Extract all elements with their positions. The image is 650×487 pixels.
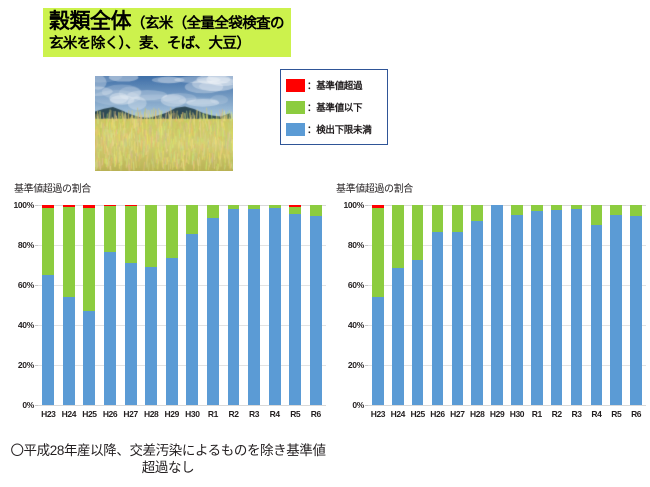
stacked-bar[interactable]	[83, 205, 95, 405]
stacked-bar[interactable]	[610, 205, 622, 405]
bar-segment-below-standard	[125, 206, 137, 263]
stacked-bar[interactable]	[630, 205, 642, 405]
bar-segment-below-detection-limit	[630, 216, 642, 405]
stacked-bar[interactable]	[551, 205, 563, 405]
bar-segment-below-standard	[83, 208, 95, 311]
panel-title-grains: 穀類全体（玄米（全量全袋検査の玄米を除く）、麦、そば、大豆）	[43, 8, 291, 57]
bar-slot-r5[interactable]	[606, 205, 626, 405]
x-axis-label-r4: R4	[264, 409, 285, 419]
x-axis-label-h25: H25	[408, 409, 428, 419]
y-axis-label: 0%	[22, 400, 34, 410]
bar-slot-r6[interactable]	[626, 205, 646, 405]
bar-slot-h29[interactable]	[161, 205, 182, 405]
bar-segment-below-detection-limit	[83, 311, 95, 405]
bar-segment-below-detection-limit	[432, 232, 444, 405]
bar-segment-below-detection-limit	[392, 268, 404, 405]
stacked-bar[interactable]	[571, 205, 583, 405]
plot-area: 0%20%40%60%80%100%	[38, 205, 326, 405]
stacked-bar[interactable]	[269, 205, 281, 405]
bar-slot-h26[interactable]	[100, 205, 121, 405]
bar-segment-below-detection-limit	[511, 215, 523, 405]
bar-slot-h24[interactable]	[388, 205, 408, 405]
x-axis-label-r3: R3	[567, 409, 587, 419]
bar-segment-below-detection-limit	[248, 209, 260, 405]
bar-slot-h24[interactable]	[59, 205, 80, 405]
x-axis: H23H24H25H26H27H28H29H30R1R2R3R4R5R6	[368, 409, 646, 419]
stacked-bar[interactable]	[412, 205, 424, 405]
bar-slot-r4[interactable]	[586, 205, 606, 405]
bar-slot-h28[interactable]	[141, 205, 162, 405]
bar-segment-below-detection-limit	[63, 297, 75, 405]
stacked-bar[interactable]	[289, 205, 301, 405]
stacked-bar[interactable]	[310, 205, 322, 405]
bar-segment-below-detection-limit	[591, 225, 603, 405]
stacked-bar[interactable]	[166, 205, 178, 405]
panel-title-grains-main: 穀類全体	[49, 10, 131, 33]
bar-segment-below-detection-limit	[125, 263, 137, 405]
bar-segment-below-standard	[511, 205, 523, 215]
stacked-bar[interactable]	[432, 205, 444, 405]
stacked-bar[interactable]	[42, 205, 54, 405]
x-axis-label-h27: H27	[120, 409, 141, 419]
bar-slot-h28[interactable]	[467, 205, 487, 405]
stacked-bar[interactable]	[228, 205, 240, 405]
bar-slot-r4[interactable]	[264, 205, 285, 405]
stacked-bar[interactable]	[125, 205, 137, 405]
bar-slot-h30[interactable]	[507, 205, 527, 405]
bar-group	[368, 205, 646, 405]
bar-slot-h26[interactable]	[428, 205, 448, 405]
x-axis-label-r5: R5	[285, 409, 306, 419]
stacked-bar[interactable]	[207, 205, 219, 405]
x-axis-label-h28: H28	[141, 409, 162, 419]
bar-slot-h23[interactable]	[368, 205, 388, 405]
bar-segment-below-detection-limit	[412, 260, 424, 405]
wheat-barley-panel: 麦類 小麦、大麦、ライ麦 基準値超過の割合 0%20%40%60%80%100%…	[330, 0, 650, 487]
stacked-bar[interactable]	[452, 205, 464, 405]
stacked-bar[interactable]	[591, 205, 603, 405]
x-axis-label-r3: R3	[244, 409, 265, 419]
bar-segment-below-detection-limit	[531, 211, 543, 405]
stacked-bar[interactable]	[186, 205, 198, 405]
bar-segment-below-standard	[207, 205, 219, 218]
bar-segment-below-detection-limit	[491, 205, 503, 405]
bar-segment-below-standard	[186, 205, 198, 234]
stacked-bar[interactable]	[511, 205, 523, 405]
legend-swatch-red	[286, 79, 305, 92]
legend-swatch-green	[286, 101, 305, 114]
legend-swatch-blue	[286, 123, 305, 136]
bar-segment-below-standard	[471, 205, 483, 221]
bar-segment-below-detection-limit	[145, 267, 157, 405]
bar-segment-below-standard	[104, 206, 116, 252]
stacked-bar[interactable]	[471, 205, 483, 405]
y-axis-label: 40%	[18, 320, 34, 330]
bar-slot-h27[interactable]	[120, 205, 141, 405]
y-axis-label: 20%	[348, 360, 364, 370]
bar-segment-below-detection-limit	[310, 216, 322, 405]
plot-area: 0%20%40%60%80%100%	[368, 205, 646, 405]
bar-segment-below-standard	[42, 208, 54, 275]
bar-slot-r2[interactable]	[223, 205, 244, 405]
bar-segment-below-standard	[166, 205, 178, 258]
bar-segment-below-detection-limit	[610, 215, 622, 405]
x-axis-label-h29: H29	[161, 409, 182, 419]
bar-segment-below-detection-limit	[471, 221, 483, 405]
y-axis-label: 60%	[18, 280, 34, 290]
stacked-bar[interactable]	[392, 205, 404, 405]
bar-segment-below-standard	[610, 205, 622, 215]
bar-segment-below-standard	[591, 205, 603, 225]
x-axis-label-r2: R2	[547, 409, 567, 419]
bar-segment-below-detection-limit	[207, 218, 219, 405]
x-axis-label-r1: R1	[203, 409, 224, 419]
x-axis-label-h23: H23	[368, 409, 388, 419]
x-axis-label-h30: H30	[507, 409, 527, 419]
bar-segment-below-standard	[289, 207, 301, 214]
x-axis-label-h28: H28	[467, 409, 487, 419]
y-axis-label: 100%	[13, 200, 34, 210]
stacked-bar[interactable]	[372, 205, 384, 405]
bar-slot-h25[interactable]	[408, 205, 428, 405]
stacked-bar[interactable]	[104, 205, 116, 405]
x-axis-label-h25: H25	[79, 409, 100, 419]
x-axis-label-h30: H30	[182, 409, 203, 419]
bar-segment-below-detection-limit	[571, 209, 583, 405]
x-axis-label-h26: H26	[100, 409, 121, 419]
y-axis-label: 60%	[348, 280, 364, 290]
wheat-field-photo	[95, 76, 233, 171]
bar-segment-below-standard	[630, 205, 642, 216]
caption-grains-overall: 〇平成28年産以降、交差汚染によるものを除き基準値超過なし	[8, 443, 328, 477]
x-axis-label-r6: R6	[306, 409, 327, 419]
bar-segment-below-detection-limit	[289, 214, 301, 405]
bar-slot-h27[interactable]	[447, 205, 467, 405]
bar-segment-below-detection-limit	[186, 234, 198, 405]
x-axis-label-h27: H27	[447, 409, 467, 419]
bar-slot-r1[interactable]	[527, 205, 547, 405]
bar-slot-h30[interactable]	[182, 205, 203, 405]
x-axis-label-r4: R4	[586, 409, 606, 419]
bar-segment-below-standard	[372, 208, 384, 297]
y-axis-label: 20%	[18, 360, 34, 370]
bar-segment-below-standard	[145, 205, 157, 267]
y-axis-label: 100%	[343, 200, 364, 210]
bar-group	[38, 205, 326, 405]
bar-slot-r3[interactable]	[567, 205, 587, 405]
bar-slot-r6[interactable]	[306, 205, 327, 405]
x-axis-label-r5: R5	[606, 409, 626, 419]
x-axis-label-r2: R2	[223, 409, 244, 419]
bar-segment-below-standard	[310, 205, 322, 216]
stacked-bar[interactable]	[145, 205, 157, 405]
bar-segment-below-detection-limit	[104, 252, 116, 405]
bar-segment-below-detection-limit	[269, 208, 281, 405]
x-axis-label-h23: H23	[38, 409, 59, 419]
y-axis-label: 80%	[348, 240, 364, 250]
bar-segment-below-standard	[63, 207, 75, 297]
bar-segment-below-standard	[392, 205, 404, 268]
stacked-bar[interactable]	[531, 205, 543, 405]
bar-slot-h25[interactable]	[79, 205, 100, 405]
y-axis-label: 40%	[348, 320, 364, 330]
bar-segment-below-detection-limit	[551, 210, 563, 405]
bar-segment-below-detection-limit	[372, 297, 384, 405]
x-axis-label-r1: R1	[527, 409, 547, 419]
bar-slot-r2[interactable]	[547, 205, 567, 405]
bar-slot-h29[interactable]	[487, 205, 507, 405]
x-axis-label-h29: H29	[487, 409, 507, 419]
bar-slot-h23[interactable]	[38, 205, 59, 405]
x-axis-label-h26: H26	[428, 409, 448, 419]
chart-title-right: 基準値超過の割合	[336, 180, 413, 195]
chart-title-left: 基準値超過の割合	[14, 180, 91, 195]
bar-segment-below-standard	[432, 205, 444, 232]
stacked-bar[interactable]	[63, 205, 75, 405]
stacked-bar[interactable]	[491, 205, 503, 405]
bar-slot-r5[interactable]	[285, 205, 306, 405]
x-axis-line	[368, 405, 646, 406]
stacked-bar[interactable]	[248, 205, 260, 405]
y-axis-label: 80%	[18, 240, 34, 250]
bar-segment-below-detection-limit	[42, 275, 54, 405]
x-axis-label-h24: H24	[388, 409, 408, 419]
y-axis-label: 0%	[352, 400, 364, 410]
x-axis-label-r6: R6	[626, 409, 646, 419]
bar-segment-below-detection-limit	[228, 209, 240, 405]
bar-segment-below-detection-limit	[452, 232, 464, 405]
bar-segment-below-standard	[452, 205, 464, 232]
x-axis-label-h24: H24	[59, 409, 80, 419]
x-axis-line	[38, 405, 326, 406]
bar-slot-r3[interactable]	[244, 205, 265, 405]
x-axis: H23H24H25H26H27H28H29H30R1R2R3R4R5R6	[38, 409, 326, 419]
bar-slot-r1[interactable]	[203, 205, 224, 405]
bar-segment-below-detection-limit	[166, 258, 178, 405]
bar-segment-below-standard	[412, 205, 424, 260]
